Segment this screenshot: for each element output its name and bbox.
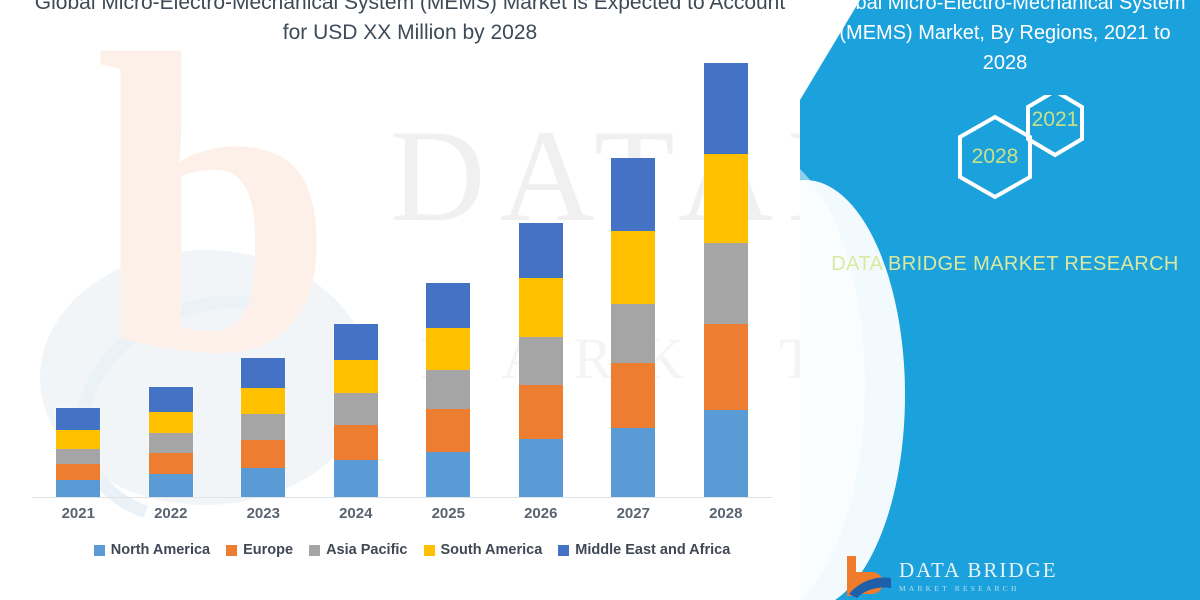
bar-segment-middle-east-and-africa [519,223,563,278]
legend-item-south-america[interactable]: South America [424,542,543,558]
bar-segment-asia-pacific [56,449,100,464]
bar-segment-middle-east-and-africa [56,408,100,431]
x-axis-label: 2024 [310,505,402,531]
bar-segment-asia-pacific [334,393,378,426]
bar-column [587,60,679,498]
hexagon-group: 2028 2021 [900,95,1200,225]
legend-item-europe[interactable]: Europe [226,542,293,558]
bar-segment-europe [56,464,100,480]
hexagon-2021-label: 2021 [1023,108,1087,132]
bar-segment-middle-east-and-africa [611,158,655,232]
legend-swatch-icon [94,545,105,556]
bar-segment-europe [519,385,563,439]
bar-column [680,60,772,498]
bar-segment-middle-east-and-africa [149,387,193,412]
bar-segment-middle-east-and-africa [426,283,470,328]
logo-main-text: DATA BRIDGE [899,560,1058,581]
stacked-bar [241,358,285,498]
bar-segment-europe [149,453,193,474]
stacked-bar [519,223,563,498]
x-axis-label: 2027 [587,505,679,531]
bar-segment-south-america [56,430,100,449]
x-axis-label: 2026 [495,505,587,531]
chart-title: Global Micro-Electro-Mechanical System (… [20,0,800,48]
bar-segment-europe [334,425,378,460]
x-axis-tick-labels: 20212022202320242025202620272028 [32,505,772,531]
bar-column [310,60,402,498]
legend-item-north-america[interactable]: North America [94,542,210,558]
legend-swatch-icon [424,545,435,556]
legend-label: North America [111,542,210,558]
chart-legend: North AmericaEuropeAsia PacificSouth Ame… [32,538,792,562]
legend-swatch-icon [309,545,320,556]
right-brand-panel: Global Micro-Electro-Mechanical System (… [800,0,1200,600]
bar-segment-south-america [611,231,655,304]
legend-label: Middle East and Africa [575,542,730,558]
bar-segment-asia-pacific [611,304,655,363]
bar-column [495,60,587,498]
right-panel-title: Global Micro-Electro-Mechanical System (… [820,0,1190,78]
bar-segment-north-america [611,428,655,498]
legend-item-middle-east-and-africa[interactable]: Middle East and Africa [558,542,730,558]
bar-segment-asia-pacific [241,414,285,440]
legend-swatch-icon [226,545,237,556]
bar-segment-middle-east-and-africa [704,63,748,154]
bar-segment-north-america [149,474,193,498]
bar-segment-south-america [426,328,470,371]
bar-segment-south-america [149,412,193,433]
bar-segment-europe [426,409,470,452]
chart-panel: Global Micro-Electro-Mechanical System (… [0,0,860,600]
bar-segment-south-america [241,388,285,414]
bar-segment-asia-pacific [519,337,563,386]
x-axis-label: 2021 [32,505,124,531]
bar-segment-south-america [704,154,748,243]
logo-b-icon [845,554,891,598]
x-axis-label: 2022 [125,505,217,531]
databridge-logo-mark [845,554,891,598]
legend-swatch-icon [558,545,569,556]
stacked-bar [704,63,748,498]
bar-segment-europe [611,363,655,428]
bar-column [32,60,124,498]
bar-segment-north-america [56,480,100,498]
legend-label: Asia Pacific [326,542,407,558]
bar-segment-south-america [519,278,563,337]
bar-segment-north-america [704,410,748,498]
stacked-bar [334,324,378,498]
hexagon-2028-label: 2028 [960,145,1030,169]
stacked-bar [149,387,193,498]
bar-segment-europe [241,440,285,468]
bar-column [402,60,494,498]
infographic-canvas: b DATABRIDGE MARKET RESEARCH Global Micr… [0,0,1200,600]
stacked-bar-series [32,60,772,498]
bar-segment-north-america [334,460,378,498]
legend-label: South America [441,542,543,558]
bar-segment-north-america [519,439,563,498]
bar-segment-middle-east-and-africa [241,358,285,388]
legend-item-asia-pacific[interactable]: Asia Pacific [309,542,407,558]
stacked-bar [611,158,655,498]
brand-name: DATA BRIDGE MARKET RESEARCH [820,250,1190,278]
bar-segment-middle-east-and-africa [334,324,378,360]
bar-segment-south-america [334,360,378,393]
bar-segment-asia-pacific [704,243,748,324]
stacked-bar [426,283,470,498]
bar-column [125,60,217,498]
x-axis-label: 2023 [217,505,309,531]
x-axis-label: 2028 [680,505,772,531]
bar-column [217,60,309,498]
bar-segment-asia-pacific [426,370,470,409]
databridge-logo: DATA BRIDGE MARKET RESEARCH [845,552,1095,600]
bar-segment-europe [704,324,748,410]
bar-segment-north-america [426,452,470,498]
logo-sub-text: MARKET RESEARCH [899,585,1058,593]
stacked-bar [56,408,100,498]
bar-segment-asia-pacific [149,433,193,453]
x-axis-label: 2025 [402,505,494,531]
x-axis-line [32,497,772,498]
databridge-logo-text: DATA BRIDGE MARKET RESEARCH [899,560,1058,593]
legend-label: Europe [243,542,293,558]
bar-segment-north-america [241,468,285,498]
